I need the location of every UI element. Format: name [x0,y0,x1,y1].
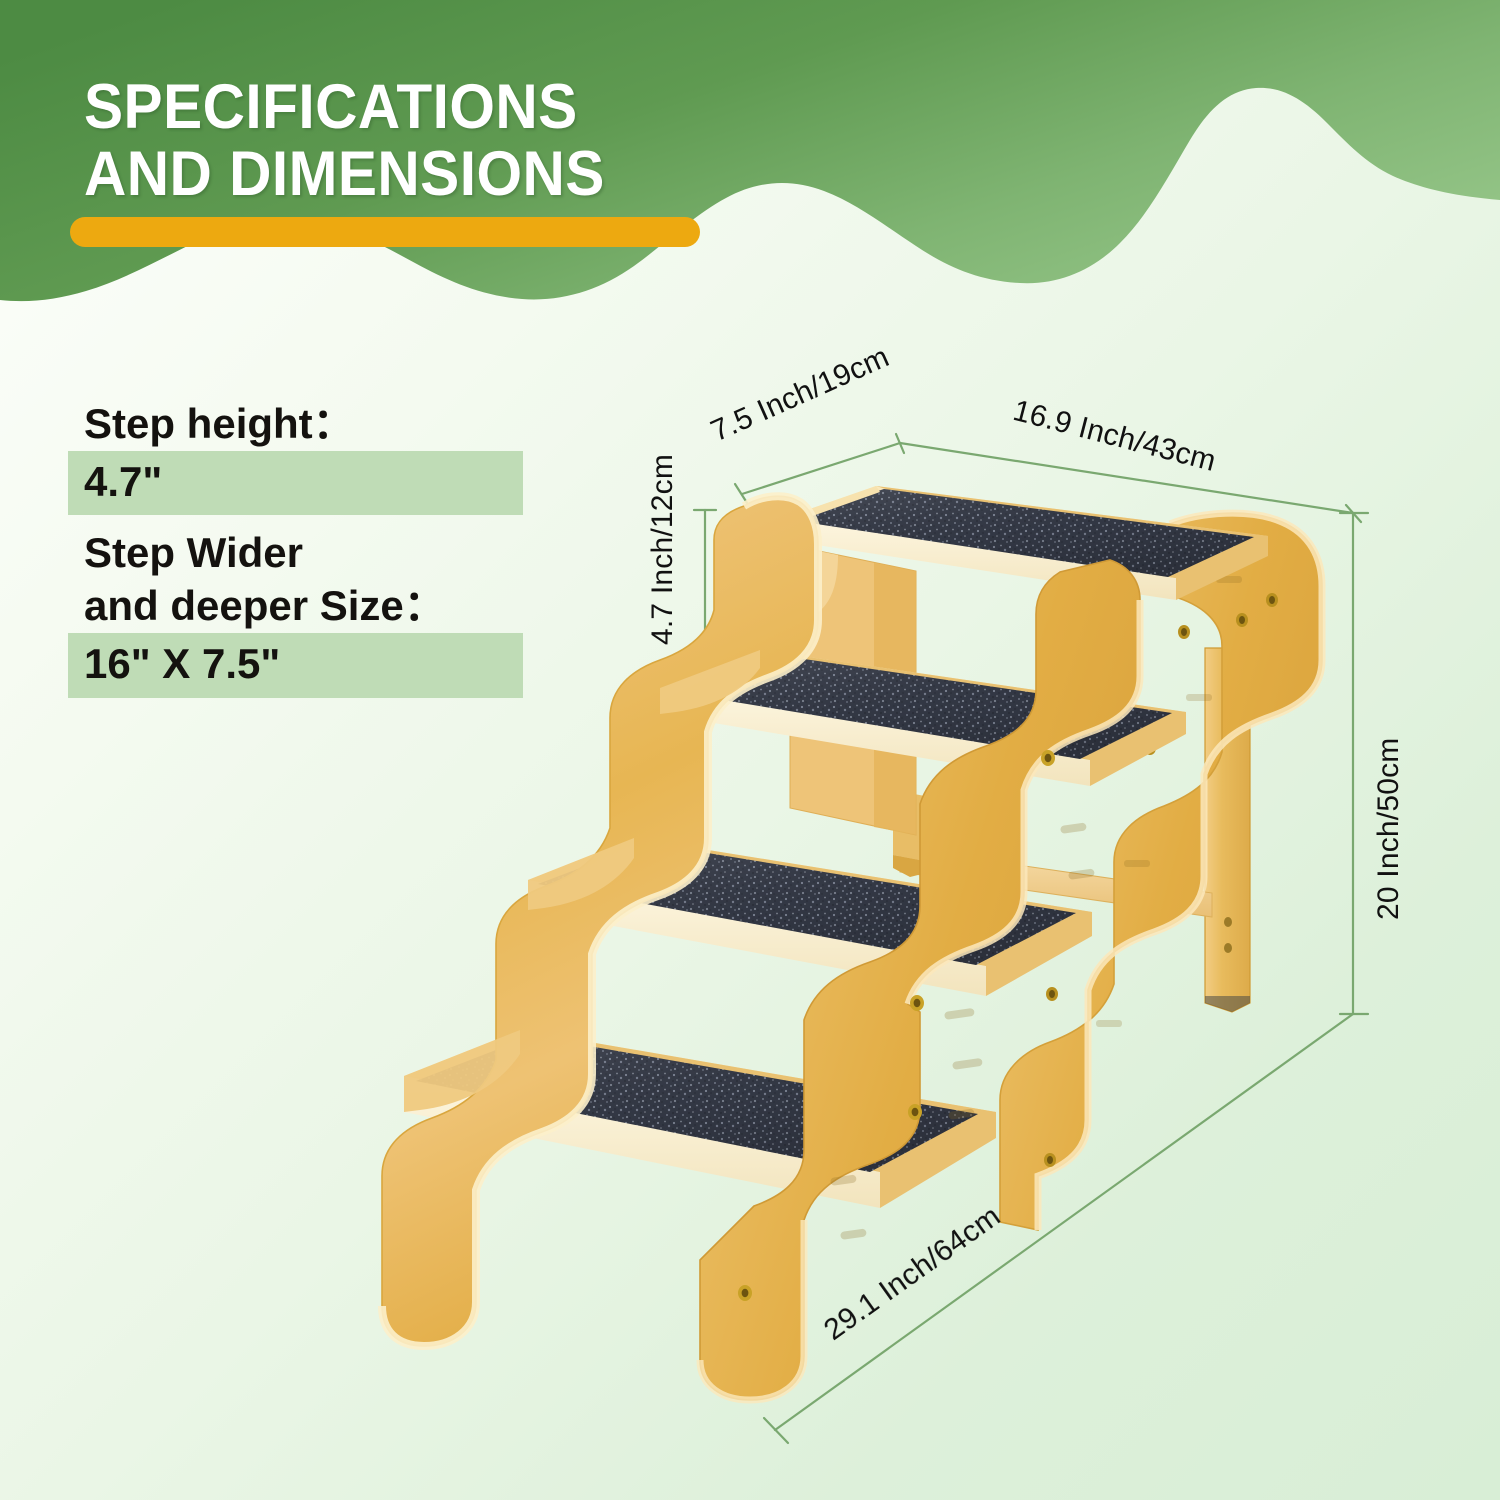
page-title: SPECIFICATIONS AND DIMENSIONS [84,74,984,209]
page-title-line-1: SPECIFICATIONS [84,74,921,141]
page-title-line-2: AND DIMENSIONS [84,141,921,208]
dimension-tick-length-left [764,1418,788,1443]
dimension-label-total-height: 20 Inch/50cm [1372,737,1406,920]
title-underline-bar [70,217,700,247]
dimension-label-step-height: 4.7 Inch/12cm [646,454,680,645]
pet-stairs-product [382,486,1322,1400]
infographic-root: SPECIFICATIONS AND DIMENSIONS Step heigh… [0,0,1500,1500]
